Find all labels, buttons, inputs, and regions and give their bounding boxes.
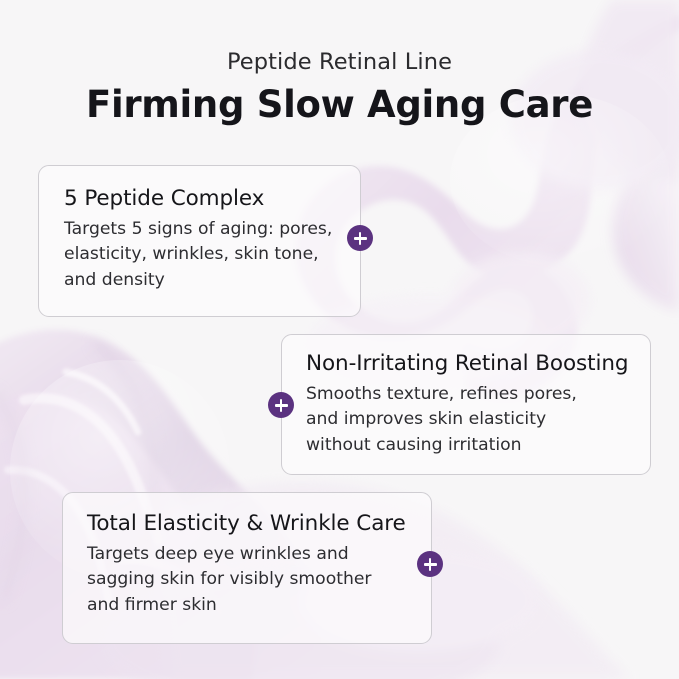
promo-banner: Peptide Retinal Line Firming Slow Aging … (0, 0, 679, 679)
card-body: Targets 5 signs of aging: pores, elastic… (64, 217, 360, 293)
plus-icon[interactable] (268, 392, 294, 418)
plus-icon[interactable] (347, 225, 373, 251)
plus-icon[interactable] (417, 551, 443, 577)
feature-card-elasticity-wrinkle-care[interactable]: Total Elasticity & Wrinkle Care Targets … (62, 492, 432, 644)
card-title: 5 Peptide Complex (64, 186, 360, 211)
card-body: Targets deep eye wrinkles and sagging sk… (87, 542, 431, 618)
card-content: Non-Irritating Retinal Boosting Smooths … (282, 335, 650, 458)
plus-icon-vertical-bar (359, 232, 362, 245)
plus-icon-vertical-bar (429, 558, 432, 571)
plus-icon-vertical-bar (280, 399, 283, 412)
feature-card-retinal-boosting[interactable]: Non-Irritating Retinal Boosting Smooths … (281, 334, 651, 475)
feature-card-peptide-complex[interactable]: 5 Peptide Complex Targets 5 signs of agi… (38, 165, 361, 317)
card-content: 5 Peptide Complex Targets 5 signs of agi… (39, 166, 360, 293)
card-body: Smooths texture, refines pores, and impr… (306, 382, 650, 458)
eyebrow-text: Peptide Retinal Line (0, 49, 679, 75)
page-title: Firming Slow Aging Care (0, 83, 679, 126)
card-content: Total Elasticity & Wrinkle Care Targets … (63, 493, 431, 618)
card-title: Total Elasticity & Wrinkle Care (87, 511, 431, 536)
card-title: Non-Irritating Retinal Boosting (306, 351, 650, 376)
